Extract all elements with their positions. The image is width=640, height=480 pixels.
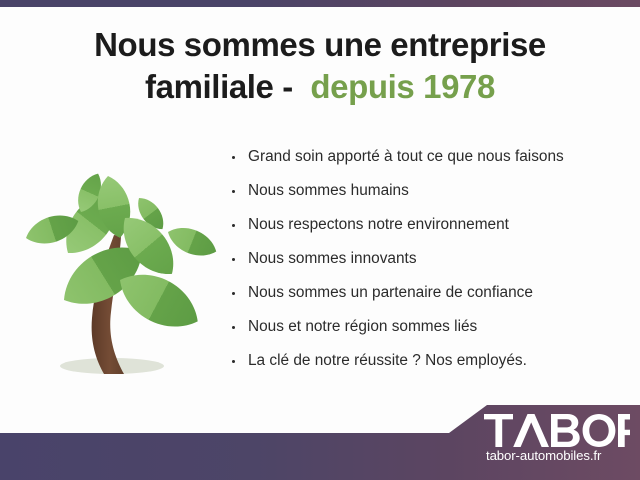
tabor-wordmark (484, 414, 630, 447)
tree-illustration (8, 150, 220, 390)
headline-line-2-prefix: familiale - (145, 68, 310, 105)
list-item-label: La clé de notre réussite ? Nos employés. (248, 352, 527, 369)
list-item-label: Grand soin apporté à tout ce que nous fa… (248, 148, 564, 165)
list-item: Nous respectons notre environnement (228, 216, 628, 234)
list-item: Nous sommes humains (228, 182, 628, 200)
headline-accent-since: depuis 1978 (310, 68, 495, 105)
list-item: Grand soin apporté à tout ce que nous fa… (228, 148, 628, 166)
headline-line-1: Nous sommes une entreprise (0, 24, 640, 66)
brand-tagline: tabor-automobiles.fr (484, 448, 634, 463)
slide-canvas: Nous sommes une entreprise familiale - d… (0, 0, 640, 480)
list-item-label: Nous sommes humains (248, 182, 409, 199)
headline-line-2: familiale - depuis 1978 (0, 66, 640, 108)
list-item: Nous et notre région sommes liés (228, 318, 628, 336)
list-item: La clé de notre réussite ? Nos employés. (228, 352, 628, 370)
value-proposition-list: Grand soin apporté à tout ce que nous fa… (228, 148, 628, 386)
list-item-label: Nous et notre région sommes liés (248, 318, 477, 335)
page-title: Nous sommes une entreprise familiale - d… (0, 24, 640, 108)
top-accent-strip (0, 0, 640, 7)
list-item-label: Nous sommes un partenaire de confiance (248, 284, 533, 301)
brand-logo: tabor-automobiles.fr (484, 414, 634, 463)
list-item: Nous sommes innovants (228, 250, 628, 268)
list-item-label: Nous respectons notre environnement (248, 216, 509, 233)
list-item: Nous sommes un partenaire de confiance (228, 284, 628, 302)
list-item-label: Nous sommes innovants (248, 250, 417, 267)
